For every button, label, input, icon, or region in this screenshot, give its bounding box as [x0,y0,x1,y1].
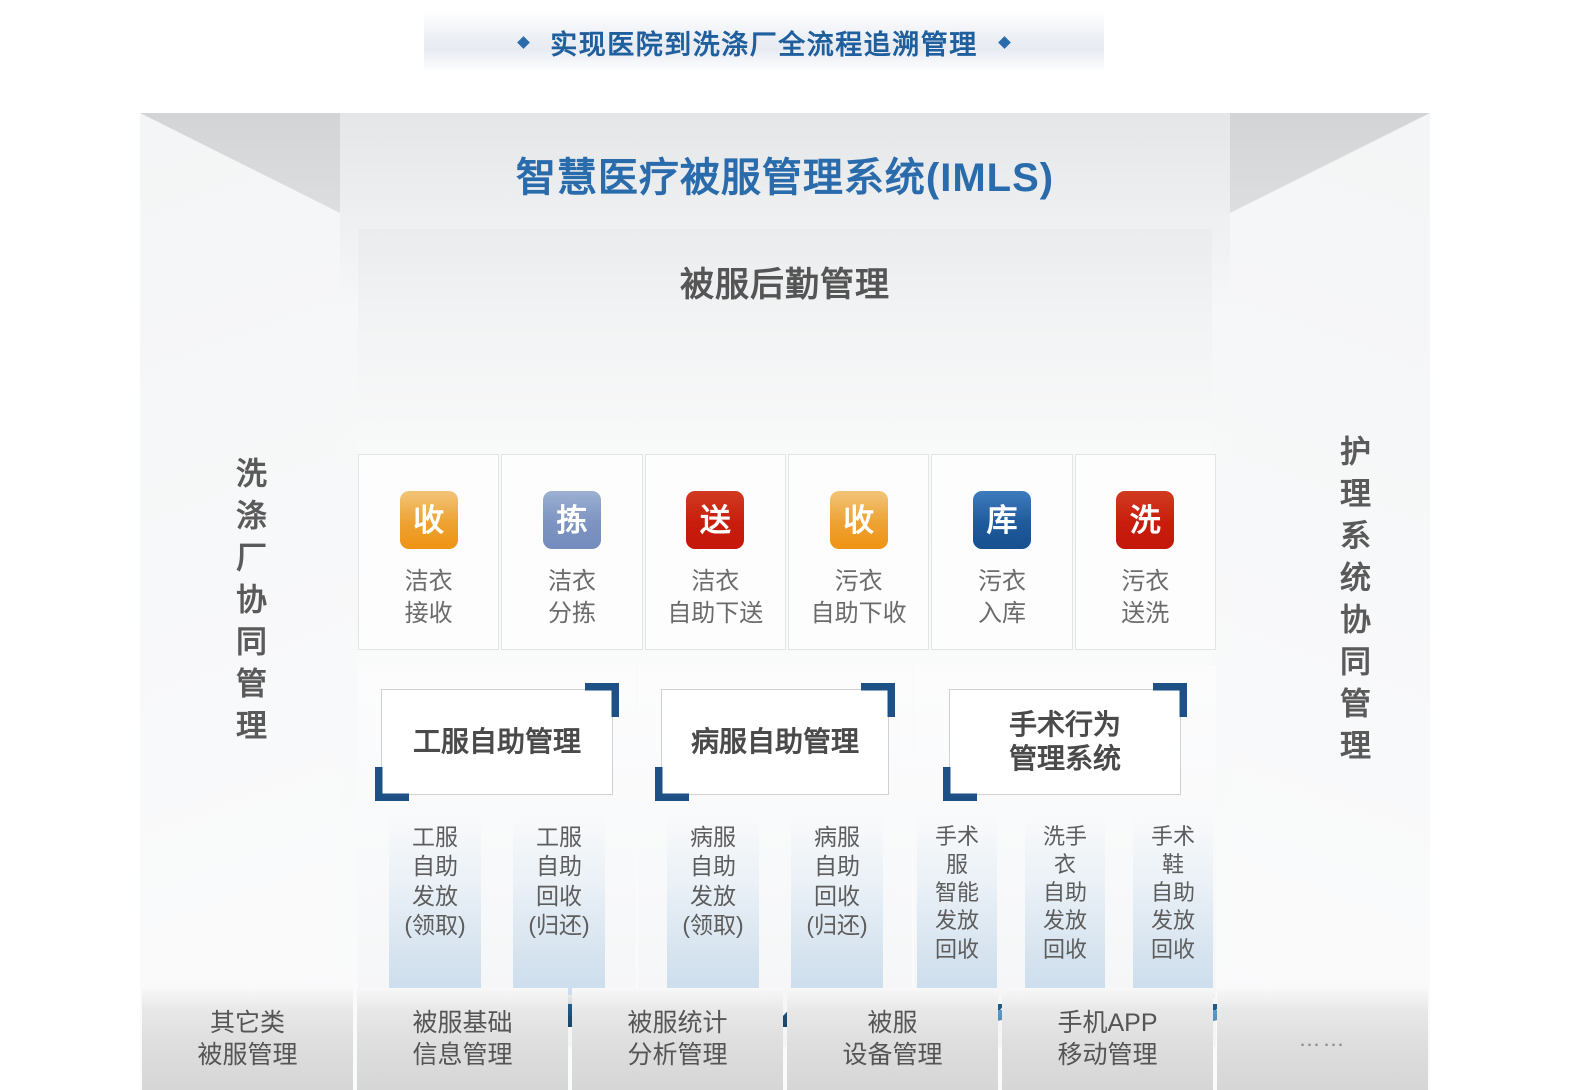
stage-card-clean-deliver[interactable]: 送 洁衣 自助下送 [645,454,786,650]
side-label-laundry-collaboration: 洗涤厂协同管理 [204,439,264,769]
group-title-bracket[interactable]: 手术行为 管理系统 [943,683,1187,801]
diamond-marker-right-icon [998,36,1011,49]
stage-card-label: 洁衣 接收 [405,566,453,629]
footer-module-basic-info[interactable]: 被服基础 信息管理 [357,988,568,1090]
system-box: 智慧医疗被服管理系统(IMLS) 洗涤厂协同管理 护理系统协同管理 被服后勤管理… [140,113,1430,1090]
stage-card-label: 污衣 入库 [978,566,1026,629]
stage-badge-icon: 拣 [543,491,601,549]
diamond-marker-left-icon [517,36,530,49]
kiosk-body: 工服 自助 回收 (归还) [513,815,605,997]
footer-module-statistics[interactable]: 被服统计 分析管理 [572,988,783,1090]
stage-card-soiled-storage[interactable]: 库 污衣 入库 [931,454,1072,650]
side-label-nursing-collaboration: 护理系统协同管理 [1308,423,1368,783]
stage-badge-icon: 收 [400,491,458,549]
kiosk-label: 病服 自助 回收 (归还) [806,823,867,941]
stage-badge-icon: 送 [686,491,744,549]
kiosk-label: 手术 服 智能 发放 回收 [935,823,979,964]
kiosk-body: 手术 鞋 自助 发放 回收 [1133,815,1213,997]
top-banner: 实现医院到洗涤厂全流程追溯管理 [424,12,1104,72]
footer-module-equipment[interactable]: 被服 设备管理 [787,988,998,1090]
diagram-root: 实现医院到洗涤厂全流程追溯管理 智慧医疗被服管理系统(IMLS) 洗涤厂协同管理… [0,0,1580,1090]
kiosk-body: 手术 服 智能 发放 回收 [917,815,997,997]
group-title: 手术行为 管理系统 [1009,708,1121,776]
group-title: 病服自助管理 [691,725,859,759]
group-title-bracket[interactable]: 病服自助管理 [655,683,895,801]
stage-badge-icon: 库 [973,491,1031,549]
stage-card-soiled-wash[interactable]: 洗 污衣 送洗 [1075,454,1216,650]
stage-card-soiled-collect[interactable]: 收 污衣 自助下收 [788,454,929,650]
stage-badge-icon: 收 [830,491,888,549]
kiosk-body: 洗手 衣 自助 发放 回收 [1025,815,1105,997]
kiosk-label: 手术 鞋 自助 发放 回收 [1151,823,1195,964]
stage-card-label: 污衣 送洗 [1121,566,1169,629]
kiosk-body: 工服 自助 发放 (领取) [389,815,481,997]
footer-module-more[interactable]: …… [1217,988,1428,1090]
banner-title: 实现医院到洗涤厂全流程追溯管理 [550,23,978,62]
kiosk-label: 工服 自助 发放 (领取) [404,823,465,941]
footer-module-other-linen[interactable]: 其它类 被服管理 [142,988,353,1090]
stage-card-clean-sort[interactable]: 拣 洁衣 分拣 [501,454,642,650]
group-title-bracket[interactable]: 工服自助管理 [375,683,619,801]
kiosk-label: 工服 自助 回收 (归还) [528,823,589,941]
kiosk-body: 病服 自助 回收 (归还) [791,815,883,997]
footer-module-mobile-app[interactable]: 手机APP 移动管理 [1002,988,1213,1090]
stage-card-label: 洁衣 分拣 [548,566,596,629]
stage-card-row: 收 洁衣 接收 拣 洁衣 分拣 送 洁衣 自助下送 收 污衣 自助下收 库 污衣… [358,454,1216,650]
logistics-panel-title: 被服后勤管理 [358,257,1212,306]
page-title: 智慧医疗被服管理系统(IMLS) [340,135,1230,213]
kiosk-body: 病服 自助 发放 (领取) [667,815,759,997]
footer-module-row: 其它类 被服管理 被服基础 信息管理 被服统计 分析管理 被服 设备管理 手机A… [140,988,1430,1090]
stage-card-label: 污衣 自助下收 [811,566,907,629]
stage-card-clean-receive[interactable]: 收 洁衣 接收 [358,454,499,650]
kiosk-label: 病服 自助 发放 (领取) [682,823,743,941]
group-title: 工服自助管理 [413,725,581,759]
stage-card-label: 洁衣 自助下送 [667,566,763,629]
stage-badge-icon: 洗 [1116,491,1174,549]
kiosk-label: 洗手 衣 自助 发放 回收 [1043,823,1087,964]
